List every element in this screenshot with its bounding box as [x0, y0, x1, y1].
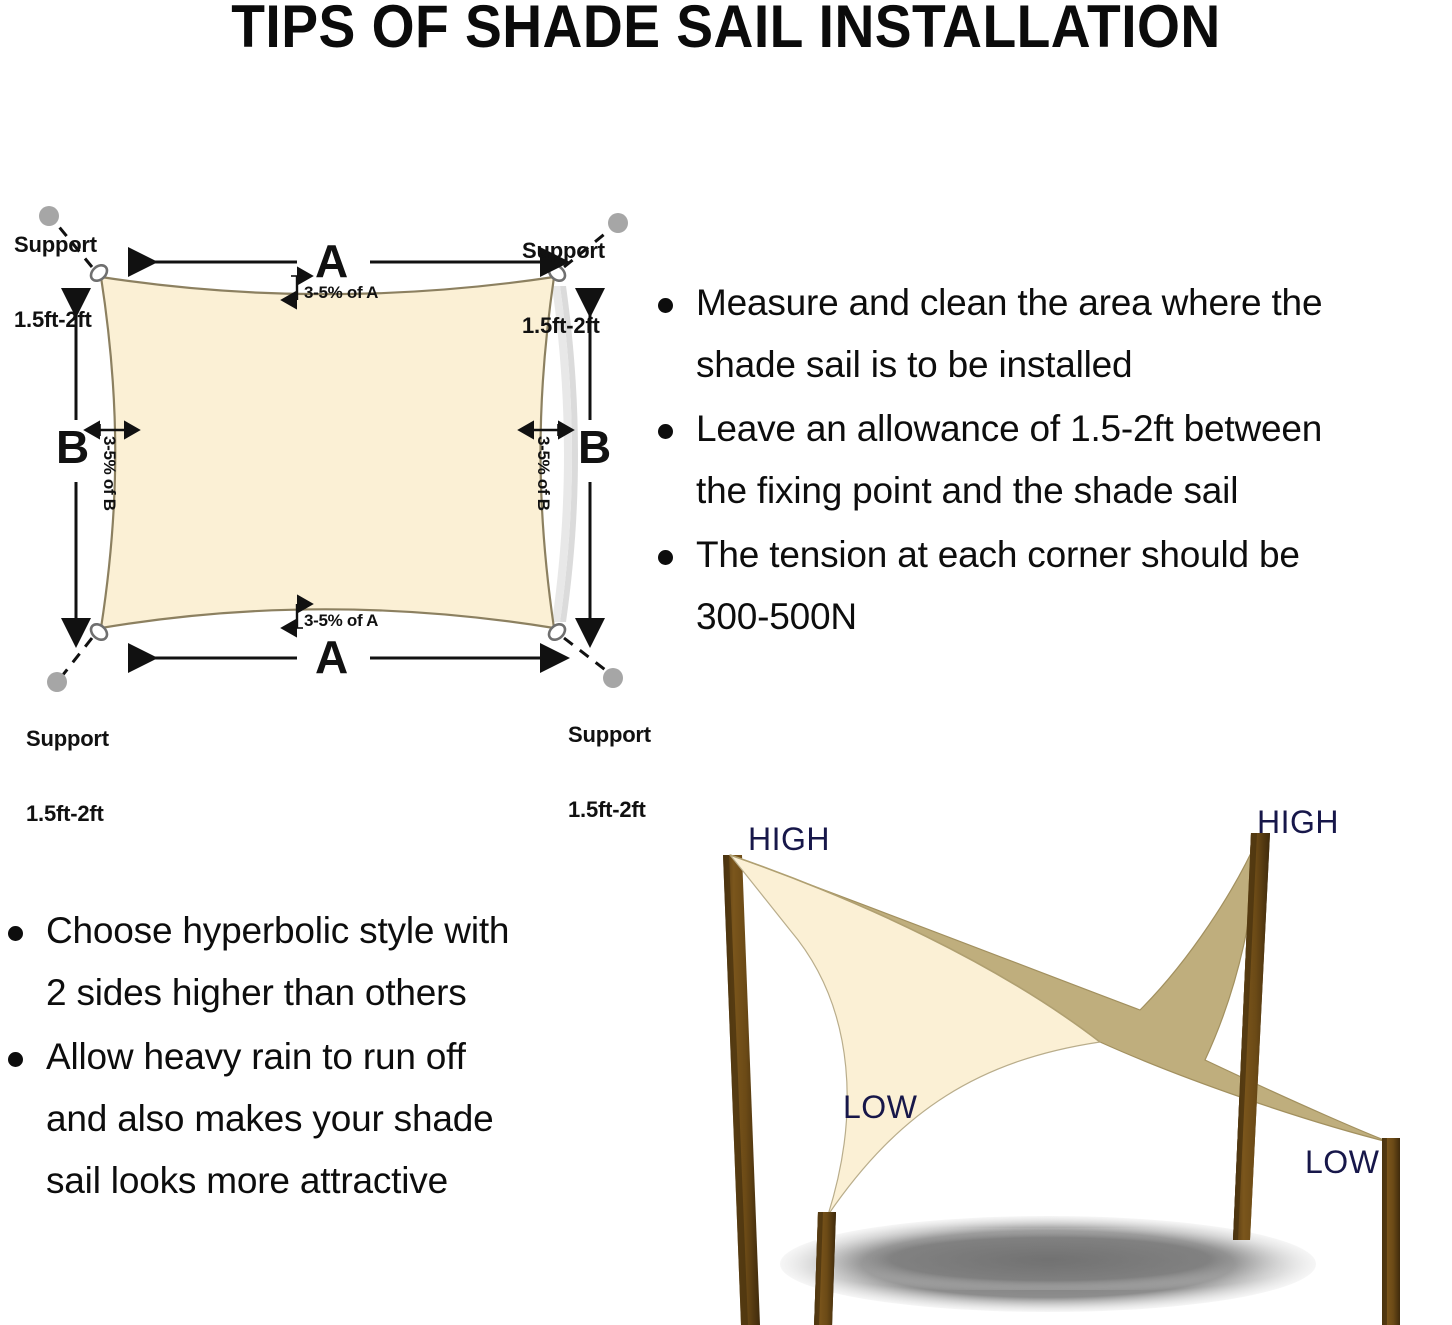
dimension-letter-b-right: B [578, 424, 611, 470]
list-item: Measure and clean the area where the sha… [652, 272, 1452, 396]
list-item-line: shade sail is to be installed [696, 334, 1452, 396]
post-low-left-shape [812, 1212, 836, 1325]
post-low-left-front [812, 1212, 836, 1325]
post-high-left-shape [723, 855, 760, 1325]
list-item: Allow heavy rain to run off and also mak… [0, 1026, 640, 1212]
support-label-line2: 1.5ft-2ft [26, 801, 109, 826]
dimension-letter-a-bottom: A [315, 634, 348, 680]
support-label-line1: Support [26, 726, 109, 751]
list-item: The tension at each corner should be 300… [652, 524, 1452, 648]
post-low-right-front [1382, 1138, 1400, 1325]
support-label-bottom-left: Support 1.5ft-2ft [26, 676, 109, 876]
list-item-line: Allow heavy rain to run off [46, 1026, 640, 1088]
bullet-dot-icon [8, 1052, 23, 1067]
list-item-line: 300-500N [696, 586, 1452, 648]
tips-list-bottom: Choose hyperbolic style with 2 sides hig… [0, 900, 640, 1214]
infographic-page: TIPS OF SHADE SAIL INSTALLATION [0, 0, 1452, 1325]
bullet-dot-icon [8, 926, 23, 941]
support-label-line2: 1.5ft-2ft [568, 797, 651, 822]
support-label-line1: Support [568, 722, 651, 747]
list-item-line: Measure and clean the area where the [696, 272, 1452, 334]
bullet-dot-icon [658, 424, 673, 439]
post-label-high-left: HIGH [748, 822, 830, 856]
support-label-line1: Support [14, 232, 97, 257]
tips-list-right: Measure and clean the area where the sha… [652, 272, 1452, 650]
list-item: Choose hyperbolic style with 2 sides hig… [0, 900, 640, 1024]
post-low-right-shape [1382, 1138, 1400, 1325]
list-item-line: and also makes your shade [46, 1088, 640, 1150]
dimension-letter-b-left: B [56, 424, 89, 470]
page-title: TIPS OF SHADE SAIL INSTALLATION [58, 0, 1394, 60]
support-label-top-left: Support 1.5ft-2ft [14, 182, 97, 382]
list-item-line: the fixing point and the shade sail [696, 460, 1452, 522]
list-item-line: Leave an allowance of 1.5-2ft between [696, 398, 1452, 460]
support-label-line2: 1.5ft-2ft [14, 307, 97, 332]
curvature-label-right: 3-5% of B [534, 436, 552, 511]
curvature-label-left: 3-5% of B [100, 436, 118, 511]
support-label-bottom-right: Support 1.5ft-2ft [568, 672, 651, 872]
list-item-line: 2 sides higher than others [46, 962, 640, 1024]
curvature-label-bottom: 3-5% of A [304, 612, 378, 630]
post-label-high-right: HIGH [1257, 805, 1339, 839]
support-label-line1: Support [522, 238, 605, 263]
list-item-line: sail looks more attractive [46, 1150, 640, 1212]
post-high-right-shape [1233, 833, 1270, 1240]
support-label-top-right: Support 1.5ft-2ft [522, 188, 605, 388]
post-label-low-right: LOW [1305, 1145, 1379, 1179]
list-item: Leave an allowance of 1.5-2ft between th… [652, 398, 1452, 522]
curvature-label-top: 3-5% of A [304, 284, 378, 302]
bullet-dot-icon [658, 550, 673, 565]
list-item-line: Choose hyperbolic style with [46, 900, 640, 962]
dimension-letter-a-top: A [315, 238, 348, 284]
bullet-dot-icon [658, 298, 673, 313]
post-label-low-left: LOW [843, 1090, 917, 1124]
post-high-right-front [1233, 833, 1270, 1240]
support-label-line2: 1.5ft-2ft [522, 313, 605, 338]
list-item-line: The tension at each corner should be [696, 524, 1452, 586]
